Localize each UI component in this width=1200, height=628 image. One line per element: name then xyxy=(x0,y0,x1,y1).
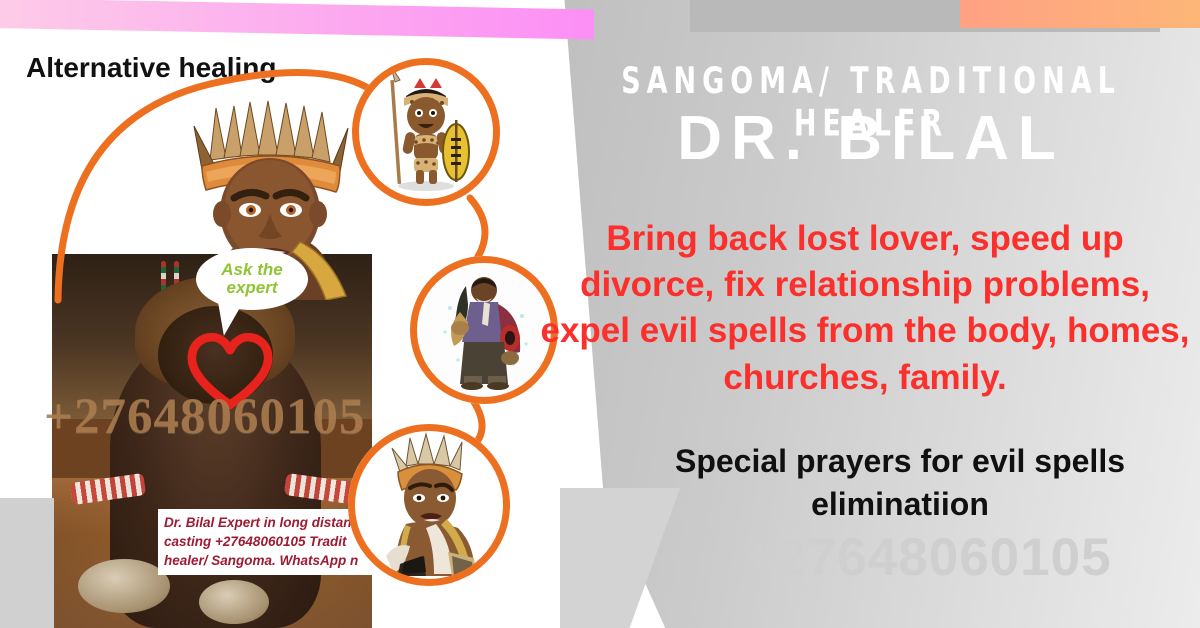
top-pink-bar xyxy=(0,0,594,40)
circle-ring-dancer xyxy=(348,424,510,586)
photo-calabash xyxy=(78,559,170,613)
bottom-left-grey-block xyxy=(0,498,54,628)
top-orange-bar xyxy=(960,0,1200,28)
caption-line-2: casting +27648060105 Tradit xyxy=(164,532,384,551)
speech-bubble-label: Ask the expert xyxy=(196,261,308,297)
brand-name: DR. BILAL xyxy=(556,105,1186,173)
special-prayers-text: Special prayers for evil spells eliminat… xyxy=(600,440,1200,526)
speech-bubble: Ask the expert xyxy=(196,248,308,310)
phone-number-watermark: +27648060105 xyxy=(648,527,1200,588)
circle-ring-warrior xyxy=(352,58,500,206)
caption-line-3: healer/ Sangoma. WhatsApp n xyxy=(164,551,384,570)
circle-ring-healer-robe xyxy=(410,256,558,404)
page-title: Alternative healing xyxy=(26,52,277,84)
services-pitch: Bring back lost lover, speed up divorce,… xyxy=(540,216,1190,401)
poster-canvas: Alternative healing xyxy=(0,0,1200,628)
